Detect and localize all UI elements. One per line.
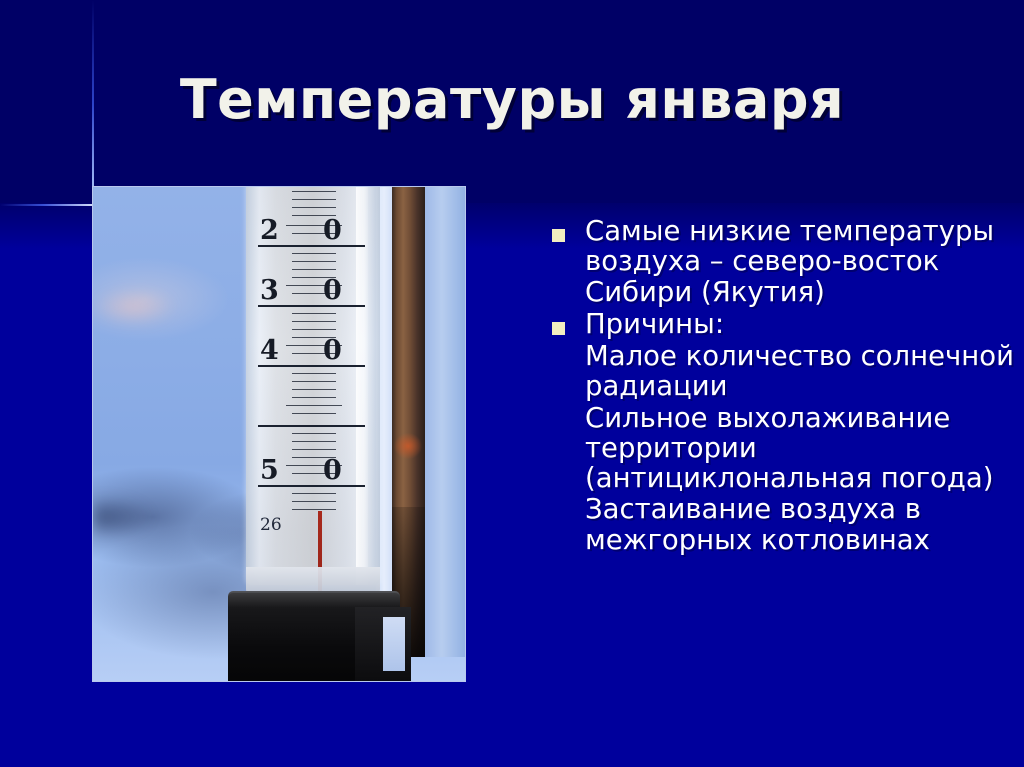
scale-tick <box>292 253 336 254</box>
scale-tick <box>292 373 336 374</box>
sub-item-solar-radiation: Малое количество солнечной радиации <box>585 341 1024 402</box>
scale-label-40-right: 0 <box>323 337 342 364</box>
scale-tick <box>292 313 336 314</box>
scale-tick <box>292 397 336 398</box>
mount-collar-gap <box>383 617 405 671</box>
content-placeholder: Самые низкие температуры воздуха – север… <box>546 216 1024 555</box>
bullet-square-icon <box>552 322 565 335</box>
rust-spot <box>394 433 422 459</box>
scale-label-50-right: 0 <box>323 457 342 484</box>
scale-tick <box>292 433 336 434</box>
scale-tick <box>292 329 336 330</box>
slide: Температуры января <box>0 0 1024 767</box>
scale-tick <box>292 321 336 322</box>
scale-label-30: 3 0 <box>260 277 279 304</box>
window-pane-right <box>425 187 466 657</box>
scale-tick <box>292 509 336 510</box>
sub-item-air-stagnation: Застаивание воздуха в межгорных котловин… <box>585 494 1024 555</box>
slide-title: Температуры января <box>0 68 1024 131</box>
scale-label-30-right: 0 <box>323 277 342 304</box>
scale-tick <box>292 449 336 450</box>
thermometer-glass-tube: 2 0 3 0 4 0 5 0 26 <box>246 186 380 585</box>
scale-label-40-left: 4 <box>260 335 279 366</box>
scale-tick <box>292 199 336 200</box>
scale-label-30-left: 3 <box>260 275 279 306</box>
bullet-item-lowest-temperatures: Самые низкие температуры воздуха – север… <box>546 216 1024 307</box>
scale-label-40: 4 0 <box>260 337 279 364</box>
thermometer-photo: 2 0 3 0 4 0 5 0 26 <box>92 186 466 682</box>
scale-tick <box>292 381 336 382</box>
scale-tick <box>286 405 342 406</box>
scale-tick <box>292 207 336 208</box>
scale-label-20: 2 0 <box>260 217 279 244</box>
scale-rule <box>258 425 365 427</box>
bullet-item-reasons: Причины: <box>546 309 1024 339</box>
sub-item-strong-cooling: Сильное выхолаживание территории (антици… <box>585 403 1024 494</box>
bullet-text-reasons: Причины: <box>585 309 1024 339</box>
scale-label-50: 5 0 <box>260 457 279 484</box>
bullet-square-icon <box>552 229 565 242</box>
scale-tick <box>292 413 336 414</box>
scale-tick <box>292 493 336 494</box>
scale-label-26: 26 <box>260 515 282 535</box>
accent-line-horizontal-icon <box>0 204 96 206</box>
scale-tick <box>292 389 336 390</box>
scale-tick <box>292 441 336 442</box>
scale-tick <box>292 191 336 192</box>
scale-tick <box>292 261 336 262</box>
scale-tick <box>292 501 336 502</box>
scale-label-20-right: 0 <box>323 217 342 244</box>
bullet-text-lowest-temperatures: Самые низкие температуры воздуха – север… <box>585 216 1024 307</box>
scale-label-20-left: 2 <box>260 215 279 246</box>
scale-label-50-left: 5 <box>260 455 279 486</box>
wooden-window-post <box>392 187 425 657</box>
scale-tick <box>292 269 336 270</box>
